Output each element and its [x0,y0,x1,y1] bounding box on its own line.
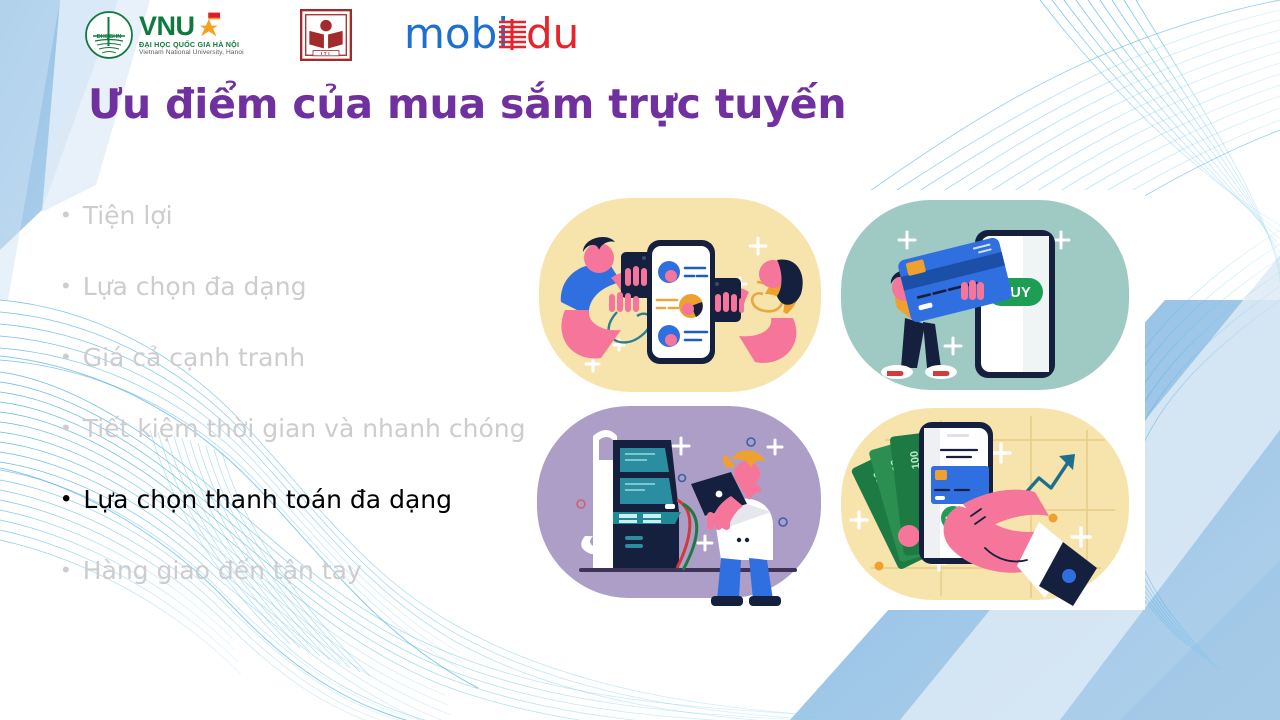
bullet-dot-icon: • [62,271,70,301]
slide-canvas: ĐHQGHN VNU ĐẠI HỌC QUỐC GIA HÀ NỘI Vietn… [0,0,1280,720]
mobiedu-part1: mobi [404,10,509,58]
iti-logo: ITI [300,9,352,61]
illustration-bottom-left-svg [525,400,835,610]
vnu-wordmark: VNU ĐẠI HỌC QUỐC GIA HÀ NỘI Vietnam Nati… [139,14,244,56]
vnu-seal-label: ĐHQGHN [97,34,121,40]
bullet-label: Hàng giao đến tận tay [83,555,362,586]
bullet-dot-icon: • [62,484,70,514]
bullet-dot-icon: • [62,555,70,585]
mobiedu-wordmark: mobi du [404,10,589,60]
illustration-mobile-payment-hand: 100 100 100 [835,400,1145,610]
bullet-list: • Tiện lợi • Lựa chọn đa dạng • Giá cả c… [62,200,532,626]
illustration-laptop-server-kiosk [525,400,835,610]
iti-acronym: ITI [321,51,331,56]
illustration-grid: BUY [525,190,1145,610]
list-item[interactable]: • Tiện lợi [62,200,532,271]
illustration-bottom-right-svg: 100 100 100 [835,400,1145,610]
list-item[interactable]: • Giá cả cạnh tranh [62,342,532,413]
list-item[interactable]: • Tiết kiệm thời gian và nhanh chóng [62,413,532,484]
bullet-label: Giá cả cạnh tranh [83,342,305,373]
page-title: Ưu điểm của mua sắm trực tuyến [88,80,846,128]
vnu-star-flag-icon [198,12,222,38]
illustration-credit-card-buy: BUY [835,190,1145,400]
vnu-logo: ĐHQGHN VNU ĐẠI HỌC QUỐC GIA HÀ NỘI Vietn… [84,7,244,63]
vnu-acronym: VNU [139,14,195,40]
vnu-name-en: Vietnam National University, Hanoi [139,50,244,57]
vnu-name-vi: ĐẠI HỌC QUỐC GIA HÀ NỘI [139,41,244,48]
illustration-two-people-with-phones [525,190,835,400]
list-item-active[interactable]: • Lựa chọn thanh toán đa dạng [62,484,532,555]
bullet-label: Lựa chọn thanh toán đa dạng [83,484,452,515]
mobiedu-part2: du [526,10,579,58]
bullet-label: Lựa chọn đa dạng [83,271,307,302]
illustration-top-left-svg [525,190,835,400]
bullet-dot-icon: • [62,200,70,230]
illustration-top-right-svg: BUY [835,190,1145,400]
bullet-label: Tiện lợi [83,200,173,231]
bullet-dot-icon: • [62,342,70,372]
bullet-dot-icon: • [62,413,70,443]
bullet-label: Tiết kiệm thời gian và nhanh chóng [83,413,526,444]
vnu-seal-icon: ĐHQGHN [84,10,134,60]
logo-bar: ĐHQGHN VNU ĐẠI HỌC QUỐC GIA HÀ NỘI Vietn… [84,6,589,64]
mobiedu-logo: mobi du [404,7,589,63]
list-item[interactable]: • Lựa chọn đa dạng [62,271,532,342]
list-item[interactable]: • Hàng giao đến tận tay [62,555,532,626]
